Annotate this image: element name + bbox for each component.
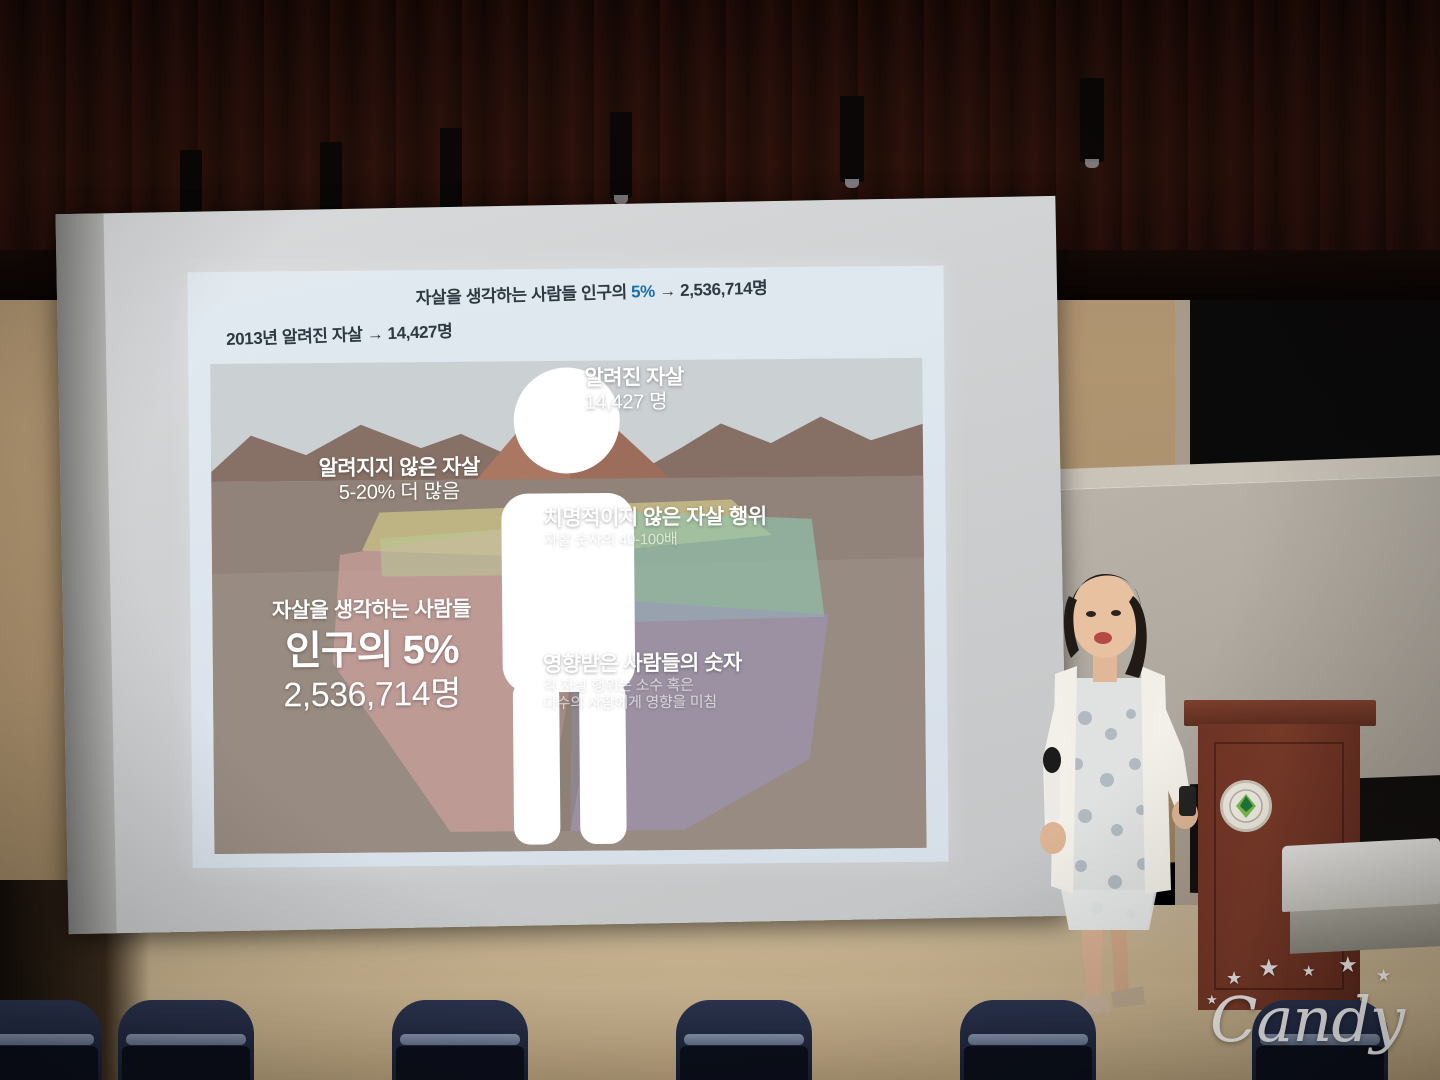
green-diamond-icon xyxy=(1229,789,1263,823)
seat xyxy=(118,1000,254,1080)
podium-emblem-icon xyxy=(1220,780,1272,832)
stage-light-6 xyxy=(1080,78,1104,162)
seat-band xyxy=(0,1034,94,1045)
label-known-suicides: 알려진 자살 14,427 명 xyxy=(584,366,684,415)
iceberg-diagram: 알려진 자살 14,427 명 알려지지 않은 자살 5-20% 더 많음 치명… xyxy=(210,358,926,854)
seat-lower xyxy=(964,1046,1092,1080)
label-ideation-title: 자살을 생각하는 사람들 xyxy=(236,597,506,624)
label-affected-people-title: 영향받은 사람들의 숫자 xyxy=(543,651,742,678)
slide-header: 자살을 생각하는 사람들 인구의 5% → 2,536,714명 2013년 알… xyxy=(188,272,945,365)
label-ideation-value: 인구의 5% xyxy=(237,626,507,676)
presenter xyxy=(1015,538,1205,1038)
seat xyxy=(0,1000,102,1080)
slide-header-line-2: 2013년 알려진 자살 → 14,427명 xyxy=(226,317,453,350)
seat-lower xyxy=(122,1046,250,1080)
seat-band xyxy=(400,1034,520,1045)
stage-light-4 xyxy=(610,112,632,198)
label-unknown-suicides-title: 알려지지 않은 자살 xyxy=(289,455,509,482)
label-non-fatal-acts-sub: 자살 숫자의 40-100배 xyxy=(544,530,767,550)
label-affected-people: 영향받은 사람들의 숫자 각 자살 행위는 소수 혹은 다수의 사람에게 영향을… xyxy=(543,651,742,713)
stage-light-3 xyxy=(440,128,462,210)
label-unknown-suicides: 알려지지 않은 자살 5-20% 더 많음 xyxy=(289,455,509,505)
seat-band xyxy=(1260,1034,1380,1045)
label-known-suicides-title: 알려진 자살 xyxy=(584,366,684,392)
seat xyxy=(1252,1000,1388,1080)
podium-top xyxy=(1184,700,1376,726)
av-equipment xyxy=(1282,838,1440,912)
seat-lower xyxy=(1256,1046,1384,1080)
label-unknown-suicides-value: 5-20% 더 많음 xyxy=(289,480,509,506)
label-ideation-value2: 2,536,714명 xyxy=(237,673,507,715)
audience-seat-row xyxy=(0,1000,1440,1080)
seat xyxy=(392,1000,528,1080)
presentation-slide: 자살을 생각하는 사람들 인구의 5% → 2,536,714명 2013년 알… xyxy=(187,266,948,869)
seat-lower xyxy=(396,1046,524,1080)
seat-band xyxy=(126,1034,246,1045)
label-non-fatal-acts-title: 치명적이지 않은 자살 행위 xyxy=(544,505,767,532)
label-ideation: 자살을 생각하는 사람들 인구의 5% 2,536,714명 xyxy=(236,597,507,715)
seat-lower xyxy=(0,1046,98,1080)
seat-lower xyxy=(680,1046,808,1080)
header-suffix: → 2,536,714명 xyxy=(655,278,768,300)
header-prefix: 자살을 생각하는 사람들 인구의 xyxy=(415,283,631,308)
presentation-photo-scene: 자살을 생각하는 사람들 인구의 5% → 2,536,714명 2013년 알… xyxy=(0,0,1440,1080)
stage-light-5 xyxy=(840,96,864,182)
label-known-suicides-value: 14,427 명 xyxy=(585,391,685,415)
label-non-fatal-acts: 치명적이지 않은 자살 행위 자살 숫자의 40-100배 xyxy=(544,505,767,549)
seat xyxy=(960,1000,1096,1080)
seat-band xyxy=(684,1034,804,1045)
label-affected-people-sub-2: 다수의 사람에게 영향을 미침 xyxy=(543,694,742,713)
header-percent: 5% xyxy=(631,282,655,302)
projection-screen: 자살을 생각하는 사람들 인구의 5% → 2,536,714명 2013년 알… xyxy=(55,196,1068,934)
seat-band xyxy=(968,1034,1088,1045)
slide-header-line-1: 자살을 생각하는 사람들 인구의 5% → 2,536,714명 xyxy=(415,273,767,308)
seat xyxy=(676,1000,812,1080)
